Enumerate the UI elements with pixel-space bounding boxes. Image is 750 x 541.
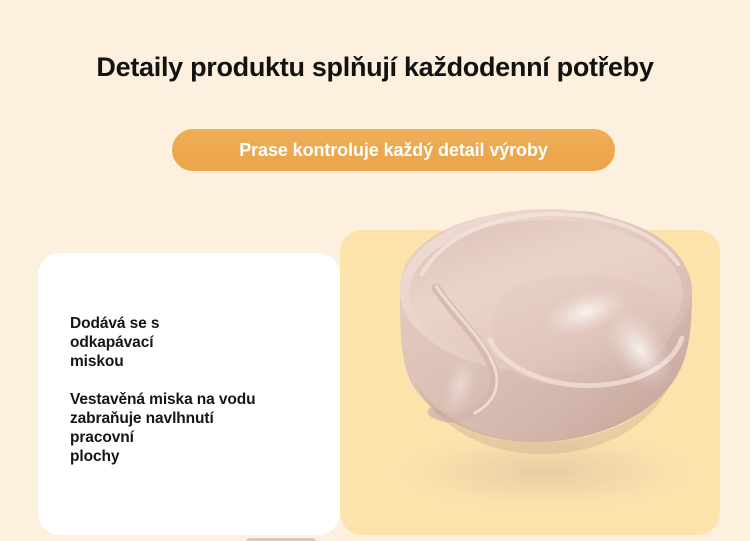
page-title: Detaily produktu splňují každodenní potř… bbox=[0, 52, 750, 83]
feature-item-1-line-3: miskou bbox=[70, 352, 330, 371]
feature-item-2-line-3: pracovní bbox=[70, 428, 330, 447]
status-badge: Prase kontroluje každý detail výroby bbox=[172, 129, 615, 171]
status-badge-label: Prase kontroluje každý detail výroby bbox=[239, 140, 548, 161]
feature-item-2-line-4: plochy bbox=[70, 447, 330, 466]
feature-item-2-line-1: Vestavěná miska na vodu bbox=[70, 390, 330, 409]
feature-item-1: Dodává se s odkapávací miskou bbox=[70, 314, 330, 371]
feature-list: Dodává se s odkapávací miskou Vestavěná … bbox=[70, 314, 330, 466]
feature-item-2: Vestavěná miska na vodu zabraňuje navlhn… bbox=[70, 390, 330, 466]
product-detail-page: Detaily produktu splňují každodenní potř… bbox=[0, 0, 750, 541]
feature-item-1-line-2: odkapávací bbox=[70, 333, 330, 352]
product-image-card bbox=[340, 230, 720, 535]
feature-item-2-line-2: zabraňuje navlhnutí bbox=[70, 409, 330, 428]
feature-item-1-line-1: Dodává se s bbox=[70, 314, 330, 333]
